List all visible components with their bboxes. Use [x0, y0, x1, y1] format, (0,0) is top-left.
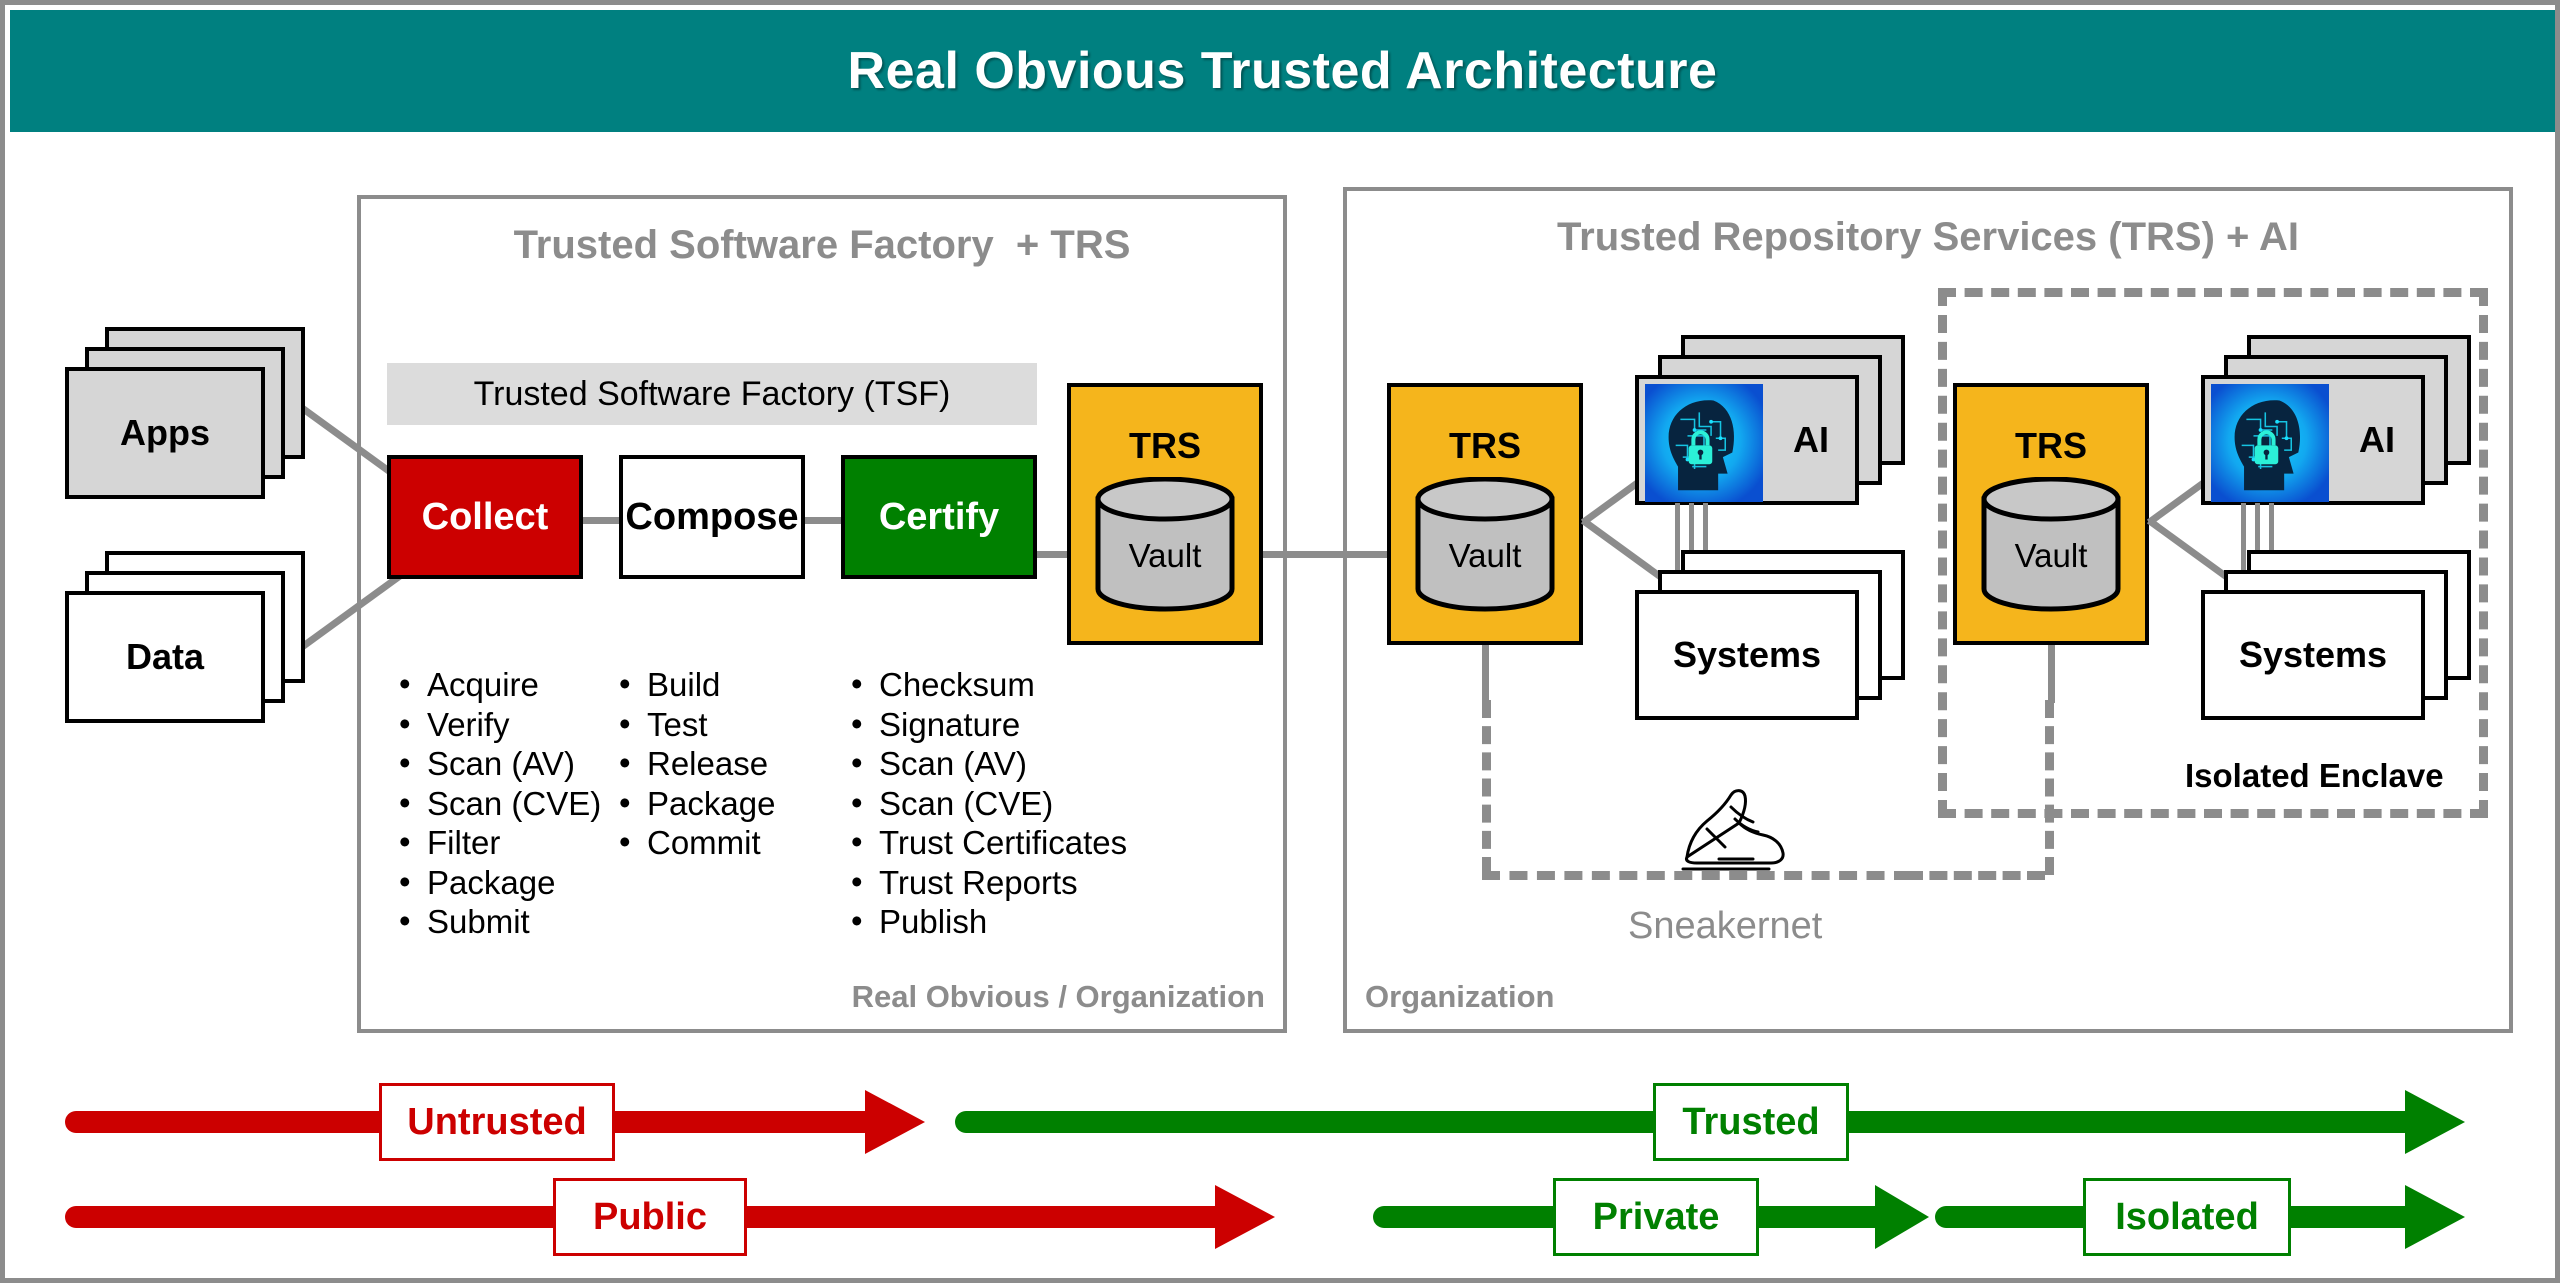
- trs-box-left-label: TRS: [1129, 425, 1201, 467]
- tsf-banner: Trusted Software Factory (TSF): [387, 363, 1037, 425]
- bullet-column-certify: Checksum Signature Scan (AV) Scan (CVE) …: [845, 665, 1127, 942]
- ai-stack-a: AI: [1635, 335, 1905, 505]
- left-panel-title: Trusted Software Factory + TRS: [361, 223, 1283, 268]
- legend-label-trusted: Trusted: [1653, 1083, 1849, 1161]
- trusted-arrow-head: [2405, 1090, 2465, 1154]
- ai-a-label: AI: [1793, 419, 1829, 461]
- stage-collect-label: Collect: [422, 496, 549, 539]
- list-item: Signature: [845, 705, 1127, 745]
- list-item: Scan (AV): [845, 744, 1127, 784]
- sneakernet-stub-left: [1482, 645, 1489, 703]
- list-item: Filter: [393, 823, 601, 863]
- bullet-column-collect: Acquire Verify Scan (AV) Scan (CVE) Filt…: [393, 665, 601, 942]
- data-stack: Data: [65, 551, 305, 723]
- connector-compose-certify: [805, 517, 841, 524]
- title-bar: Real Obvious Trusted Architecture: [10, 10, 2555, 132]
- ai-stack-enclave: AI: [2201, 335, 2471, 505]
- systems-stack-a: Systems: [1635, 550, 1905, 720]
- list-item: Submit: [393, 902, 601, 942]
- systems-card-a: Systems: [1635, 590, 1859, 720]
- vault-right-a-label: Vault: [1391, 537, 1579, 575]
- trs-box-enclave-label: TRS: [2015, 425, 2087, 467]
- list-item: Trust Reports: [845, 863, 1127, 903]
- list-item: Package: [393, 863, 601, 903]
- trs-box-right-a: TRS Vault: [1387, 383, 1583, 645]
- legend-label-public: Public: [553, 1178, 747, 1256]
- list-item: Scan (AV): [393, 744, 601, 784]
- sneakernet-dashed-horizontal-right: [1905, 871, 2045, 880]
- bullet-column-compose: Build Test Release Package Commit: [613, 665, 775, 863]
- sneakernet-label: Sneakernet: [1628, 905, 1822, 948]
- stage-certify: Certify: [841, 455, 1037, 579]
- legend-row-trust: Untrusted Trusted: [5, 1083, 2560, 1163]
- list-item: Build: [613, 665, 775, 705]
- stage-compose: Compose: [619, 455, 805, 579]
- right-panel-footer: Organization: [1365, 979, 1554, 1015]
- sneakernet-stub-right: [2048, 645, 2055, 703]
- untrusted-arrow-head: [865, 1090, 925, 1154]
- legend-row-exposure: Public Private Isolated: [5, 1178, 2560, 1258]
- isolated-arrow-head: [2405, 1185, 2465, 1249]
- legend-label-isolated: Isolated: [2083, 1178, 2291, 1256]
- trs-box-right-a-label: TRS: [1449, 425, 1521, 467]
- ai-brain-lock-icon: [2211, 384, 2329, 502]
- isolated-enclave-label: Isolated Enclave: [2185, 757, 2444, 795]
- systems-card-enclave: Systems: [2201, 590, 2425, 720]
- list-item: Release: [613, 744, 775, 784]
- stage-collect: Collect: [387, 455, 583, 579]
- public-arrow-head: [1215, 1185, 1275, 1249]
- trs-box-left: TRS Vault: [1067, 383, 1263, 645]
- systems-b-label: Systems: [2239, 634, 2387, 676]
- private-arrow-head: [1875, 1185, 1929, 1249]
- stage-certify-label: Certify: [879, 496, 999, 539]
- legend-label-untrusted: Untrusted: [379, 1083, 615, 1161]
- sneakernet-dashed-vertical-left: [1482, 700, 1491, 875]
- systems-stack-enclave: Systems: [2201, 550, 2471, 720]
- list-item: Package: [613, 784, 775, 824]
- connector-collect-compose: [583, 517, 619, 524]
- ai-brain-lock-icon: [1645, 384, 1763, 502]
- diagram-canvas: Real Obvious Trusted Architecture Truste…: [0, 0, 2560, 1283]
- list-item: Acquire: [393, 665, 601, 705]
- right-panel-title: Trusted Repository Services (TRS) + AI: [1347, 215, 2509, 260]
- list-item: Trust Certificates: [845, 823, 1127, 863]
- page-title: Real Obvious Trusted Architecture: [848, 41, 1718, 101]
- ai-b-label: AI: [2359, 419, 2395, 461]
- data-card: Data: [65, 591, 265, 723]
- systems-a-label: Systems: [1673, 634, 1821, 676]
- vault-left-label: Vault: [1071, 537, 1259, 575]
- list-item: Scan (CVE): [845, 784, 1127, 824]
- left-panel-footer: Real Obvious / Organization: [852, 979, 1265, 1015]
- ai-card-enclave: AI: [2201, 375, 2425, 505]
- list-item: Commit: [613, 823, 775, 863]
- legend-label-private: Private: [1553, 1178, 1759, 1256]
- tsf-banner-label: Trusted Software Factory (TSF): [474, 375, 951, 414]
- ai-card-a: AI: [1635, 375, 1859, 505]
- list-item: Test: [613, 705, 775, 745]
- trs-box-enclave: TRS Vault: [1953, 383, 2149, 645]
- apps-label: Apps: [120, 412, 210, 454]
- stage-compose-label: Compose: [625, 496, 798, 539]
- list-item: Verify: [393, 705, 601, 745]
- apps-stack: Apps: [65, 327, 305, 499]
- vault-enclave-label: Vault: [1957, 537, 2145, 575]
- list-item: Checksum: [845, 665, 1127, 705]
- list-item: Scan (CVE): [393, 784, 601, 824]
- sneaker-shoe-icon: [1673, 785, 1793, 881]
- data-label: Data: [126, 636, 204, 678]
- list-item: Publish: [845, 902, 1127, 942]
- apps-card: Apps: [65, 367, 265, 499]
